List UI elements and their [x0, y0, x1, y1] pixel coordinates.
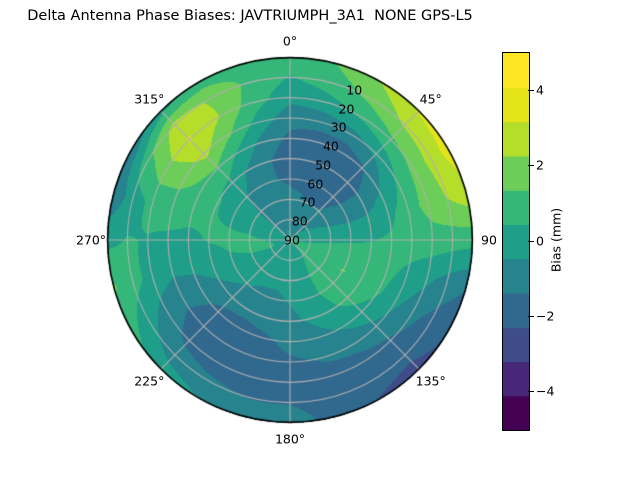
colorbar-tick-label-4: 4: [536, 82, 544, 97]
azimuth-tick-315: 315°: [134, 92, 164, 107]
radial-tick-20: 20: [339, 101, 355, 116]
radial-tick-90: 90: [284, 233, 300, 248]
azimuth-tick-225: 225°: [134, 373, 164, 388]
colorbar-axis-label: Bias (mm): [549, 208, 564, 272]
colorbar-tick-mark-0: [528, 391, 534, 392]
radial-tick-40: 40: [323, 139, 339, 154]
radial-tick-80: 80: [292, 214, 308, 229]
colorbar-tick-mark-1: [528, 316, 534, 317]
colorbar-tick-label-0: −4: [536, 384, 554, 399]
radial-tick-50: 50: [315, 157, 331, 172]
radial-tick-70: 70: [300, 195, 316, 210]
azimuth-tick-90: 90: [481, 233, 497, 248]
radial-tick-10: 10: [346, 82, 362, 97]
colorbar: −4−2024: [502, 52, 528, 429]
radial-tick-60: 60: [307, 176, 323, 191]
azimuth-tick-135: 135°: [416, 373, 446, 388]
azimuth-tick-270: 270°: [76, 233, 106, 248]
radial-tick-30: 30: [331, 120, 347, 135]
figure-canvas: Delta Antenna Phase Biases: JAVTRIUMPH_3…: [0, 0, 640, 480]
colorbar-tick-mark-3: [528, 165, 534, 166]
azimuth-tick-45: 45°: [420, 92, 442, 107]
colorbar-tick-label-3: 2: [536, 158, 544, 173]
colorbar-gradient: [502, 52, 530, 431]
colorbar-tick-label-2: 0: [536, 233, 544, 248]
colorbar-tick-mark-2: [528, 241, 534, 242]
azimuth-tick-0: 0°: [283, 34, 297, 49]
polar-plot: 0°45°90135°180°225°270°315° 102030405060…: [106, 56, 474, 424]
page-title: Delta Antenna Phase Biases: JAVTRIUMPH_3…: [0, 8, 500, 24]
colorbar-tick-mark-4: [528, 90, 534, 91]
azimuth-tick-180: 180°: [275, 432, 305, 447]
colorbar-tick-label-1: −2: [536, 308, 554, 323]
